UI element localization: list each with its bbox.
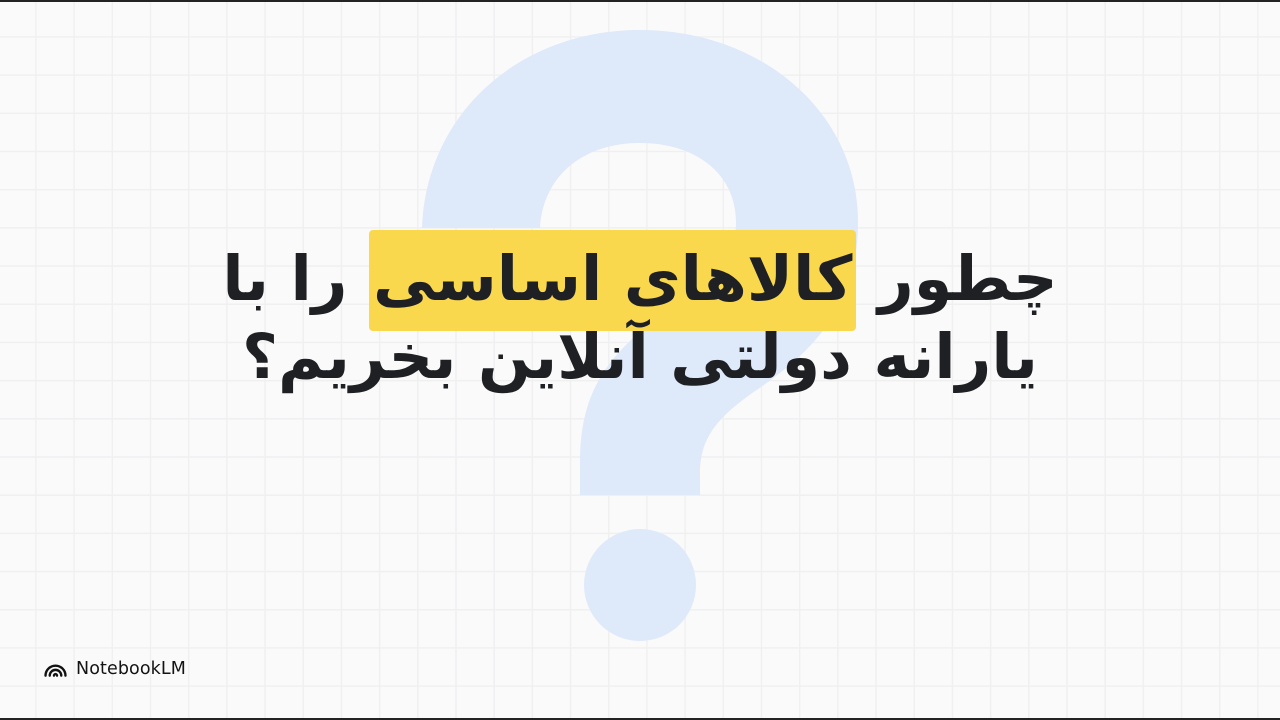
- headline-line-1-trailing: را با: [222, 242, 369, 315]
- notebooklm-brand-lockup: NotebookLM: [44, 658, 186, 681]
- video-overview-slide: چطور کالاهای اساسی را با یارانه دولتی آن…: [0, 0, 1280, 720]
- headline: چطور کالاهای اساسی را با یارانه دولتی آن…: [0, 248, 1280, 388]
- notebooklm-spiral-icon: [44, 658, 67, 681]
- headline-line-1: چطور کالاهای اساسی را با: [0, 248, 1280, 310]
- headline-line-2: یارانه دولتی آنلاین بخریم؟: [0, 326, 1280, 388]
- notebooklm-wordmark: NotebookLM: [76, 661, 186, 679]
- headline-highlighted-phrase: کالاهای اساسی: [369, 230, 856, 331]
- headline-line-1-leading: چطور: [856, 242, 1057, 315]
